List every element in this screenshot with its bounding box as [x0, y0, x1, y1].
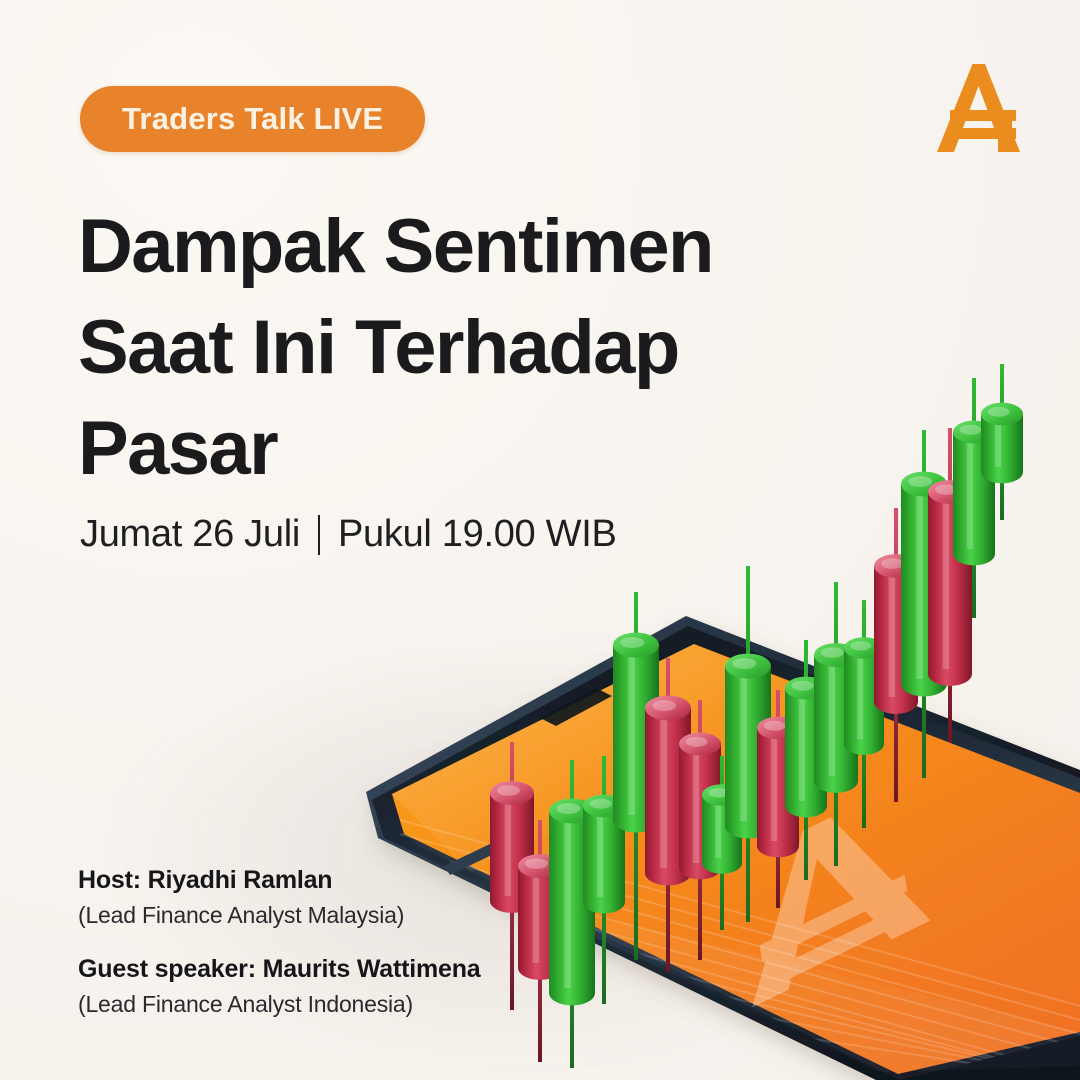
headline-line-2: Saat Ini Terhadap — [78, 297, 798, 398]
host-role: (Lead Finance Analyst Malaysia) — [78, 902, 481, 929]
host-credit: Host: Riyadhi Ramlan (Lead Finance Analy… — [78, 866, 481, 929]
page-title: Dampak Sentimen Saat Ini Terhadap Pasar — [78, 196, 798, 499]
speaker-credits: Host: Riyadhi Ramlan (Lead Finance Analy… — [78, 866, 481, 1018]
event-date: Jumat 26 Juli — [80, 513, 300, 556]
guest-role: (Lead Finance Analyst Indonesia) — [78, 991, 481, 1018]
event-time: Pukul 19.00 WIB — [338, 513, 617, 556]
host-name: Host: Riyadhi Ramlan — [78, 866, 481, 895]
guest-credit: Guest speaker: Maurits Wattimena (Lead F… — [78, 955, 481, 1018]
logo-a-icon — [928, 58, 1032, 158]
live-badge: Traders Talk LIVE — [80, 86, 425, 152]
poster-canvas: Traders Talk LIVE Dampak Sentimen Saat I… — [0, 0, 1080, 1080]
headline-line-1: Dampak Sentimen — [78, 196, 798, 297]
live-badge-label: Traders Talk LIVE — [122, 101, 383, 137]
guest-name: Guest speaker: Maurits Wattimena — [78, 955, 481, 984]
event-schedule: Jumat 26 Juli Pukul 19.00 WIB — [80, 513, 617, 556]
headline-line-3: Pasar — [78, 398, 798, 499]
schedule-separator — [318, 515, 320, 555]
